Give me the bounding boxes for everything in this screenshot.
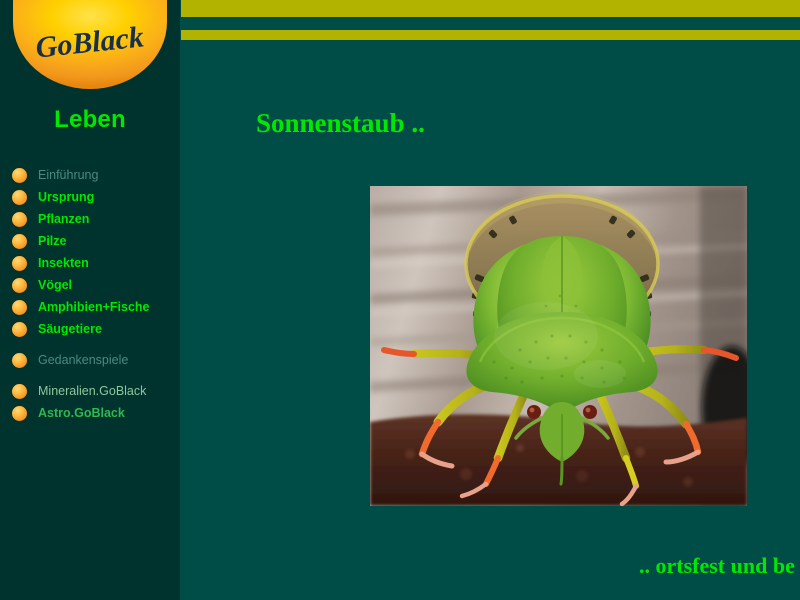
sidebar-item-label: Vögel [38,278,72,292]
main-content: Sonnenstaub .. [181,40,800,600]
green-shield-bug-photo [370,186,747,506]
sidebar-item-label: Säugetiere [38,322,102,336]
sidebar-item-mineralien-goblack[interactable]: Mineralien.GoBlack [0,380,180,402]
orange-sphere-bullet-icon [12,353,27,368]
orange-sphere-bullet-icon [12,322,27,337]
sidebar-item-ursprung[interactable]: Ursprung [0,186,180,208]
sidebar-item-label: Mineralien.GoBlack [38,384,146,398]
header-accent-bar-top [181,0,800,17]
sidebar-item-pilze[interactable]: Pilze [0,230,180,252]
orange-sphere-bullet-icon [12,256,27,271]
orange-sphere-bullet-icon [12,384,27,399]
sidebar-item-label: Gedankenspiele [38,353,128,367]
sidebar-item-v-gel[interactable]: Vögel [0,274,180,296]
orange-sphere-bullet-icon [12,168,27,183]
header-accent-bar-bottom [181,30,800,40]
sidebar-item-label: Amphibien+Fische [38,300,149,314]
sidebar-item-label: Ursprung [38,190,94,204]
content-heading: Sonnenstaub .. [256,108,425,139]
sidebar-item-label: Insekten [38,256,89,270]
page-title: Leben [0,106,180,134]
sidebar-item-s-ugetiere[interactable]: Säugetiere [0,318,180,340]
sidebar-item-astro-goblack[interactable]: Astro.GoBlack [0,402,180,424]
sidebar-item-label: Einführung [38,168,98,182]
sidebar-item-pflanzen[interactable]: Pflanzen [0,208,180,230]
orange-sphere-bullet-icon [12,234,27,249]
logo-dome-shape [13,0,167,89]
orange-sphere-bullet-icon [12,212,27,227]
sidebar-item-amphibien-fische[interactable]: Amphibien+Fische [0,296,180,318]
sidebar-item-label: Astro.GoBlack [38,406,125,420]
orange-sphere-bullet-icon [12,190,27,205]
orange-sphere-bullet-icon [12,300,27,315]
sidebar-item-insekten[interactable]: Insekten [0,252,180,274]
sidebar-item-gedankenspiele[interactable]: Gedankenspiele [0,349,180,371]
orange-sphere-bullet-icon [12,406,27,421]
sidebar-nav: EinführungUrsprungPflanzenPilzeInsektenV… [0,164,180,424]
sidebar-item-label: Pflanzen [38,212,89,226]
sidebar-item-einf-hrung[interactable]: Einführung [0,164,180,186]
bug-photo-illustration [370,186,747,506]
sidebar-item-label: Pilze [38,234,67,248]
content-caption: .. ortsfest und be [639,553,795,579]
sidebar: GoBlack Leben EinführungUrsprungPflanzen… [0,0,180,600]
site-logo[interactable]: GoBlack [13,0,167,89]
orange-sphere-bullet-icon [12,278,27,293]
